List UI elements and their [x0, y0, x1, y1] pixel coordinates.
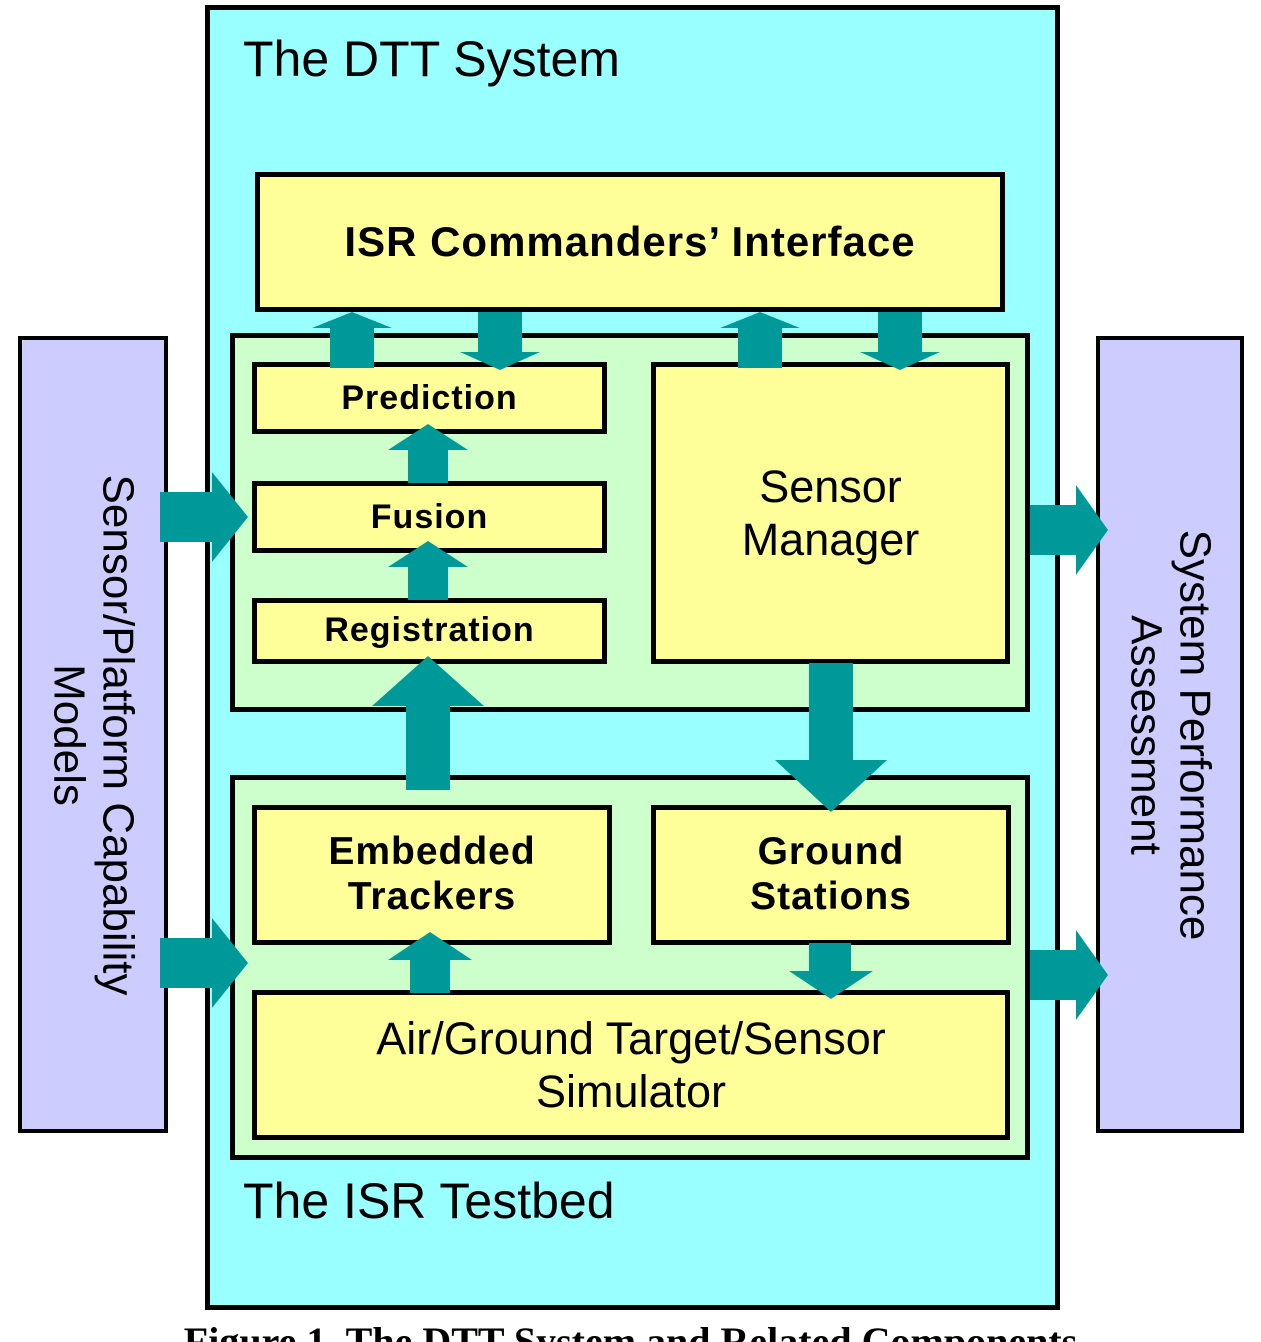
fusion-label: Fusion	[371, 498, 488, 537]
embedded-trackers-line2: Trackers	[348, 875, 516, 918]
prediction-label: Prediction	[341, 379, 517, 418]
registration-label: Registration	[324, 602, 534, 658]
ground-stations-label: Ground Stations	[750, 830, 912, 920]
prediction-box: Prediction	[252, 362, 607, 434]
sensor-manager-label: Sensor Manager	[742, 460, 920, 566]
dtt-system-title: The DTT System	[243, 28, 863, 90]
sensor-platform-models-panel: Sensor/Platform Capability Models	[18, 336, 168, 1133]
right-panel-line1: System Performance	[1170, 529, 1219, 940]
left-panel-line1: Sensor/Platform Capability	[93, 474, 142, 995]
figure-canvas: Sensor/Platform Capability Models System…	[0, 0, 1261, 1342]
sensor-manager-line2: Manager	[742, 514, 920, 565]
ground-stations-box: Ground Stations	[651, 805, 1011, 945]
fusion-box: Fusion	[252, 481, 607, 553]
ground-stations-line2: Stations	[750, 875, 912, 918]
embedded-trackers-box: Embedded Trackers	[252, 805, 612, 945]
left-panel-line2: Models	[44, 664, 93, 806]
isr-commanders-interface-label: ISR Commanders’ Interface	[344, 218, 915, 266]
target-sensor-simulator-label: Air/Ground Target/Sensor Simulator	[376, 1012, 885, 1118]
figure-caption: Figure 1. The DTT System and Related Com…	[0, 1318, 1261, 1342]
isr-commanders-interface-box: ISR Commanders’ Interface	[255, 172, 1005, 312]
sensor-manager-line1: Sensor	[759, 461, 902, 512]
system-performance-assessment-panel: System Performance Assessment	[1096, 336, 1244, 1133]
embedded-trackers-label: Embedded Trackers	[328, 830, 535, 920]
isr-testbed-title: The ISR Testbed	[243, 1170, 863, 1232]
target-sensor-simulator-box: Air/Ground Target/Sensor Simulator	[252, 990, 1010, 1140]
right-panel-line2: Assessment	[1121, 615, 1170, 855]
embedded-trackers-line1: Embedded	[328, 830, 535, 873]
simulator-line1: Air/Ground Target/Sensor	[376, 1013, 885, 1064]
ground-stations-line1: Ground	[758, 830, 905, 873]
simulator-line2: Simulator	[536, 1066, 726, 1117]
sensor-platform-models-label: Sensor/Platform Capability Models	[44, 474, 143, 995]
registration-box: Registration	[252, 598, 607, 664]
system-performance-assessment-label: System Performance Assessment	[1121, 529, 1220, 940]
sensor-manager-box: Sensor Manager	[651, 362, 1010, 664]
